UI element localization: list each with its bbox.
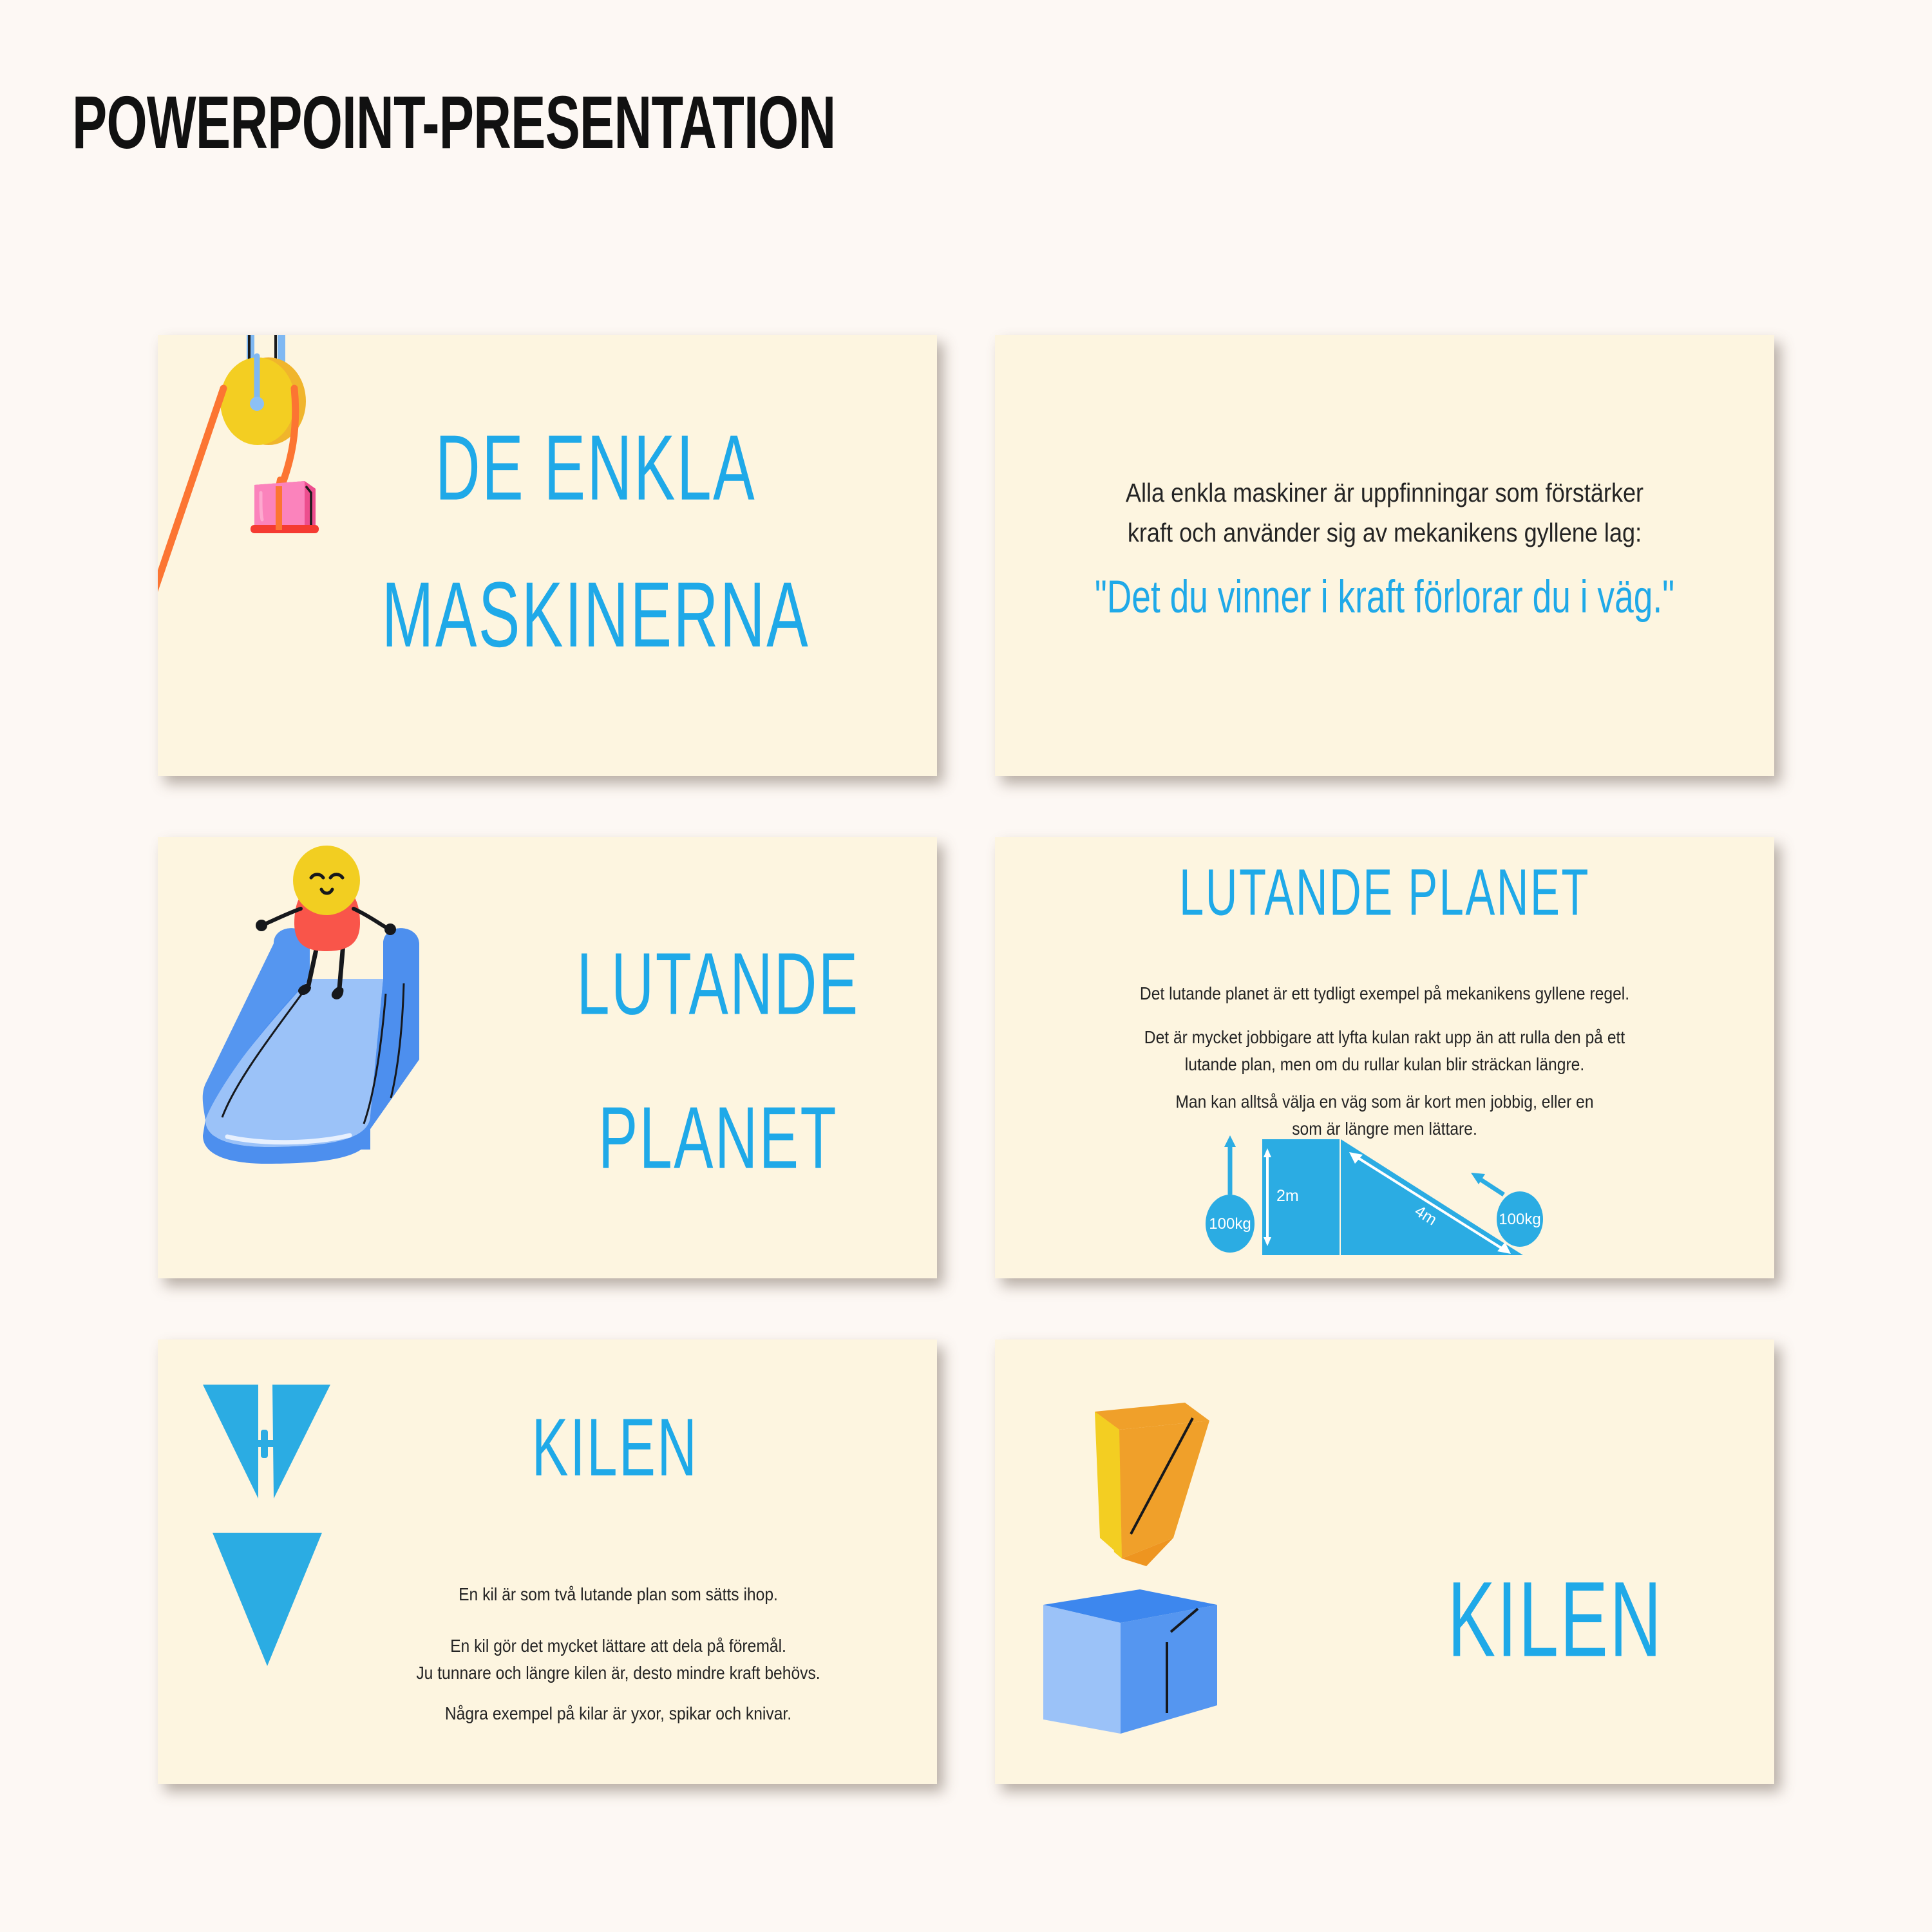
slide-4[interactable]: LUTANDE PLANET Det lutande planet är ett… — [995, 837, 1774, 1278]
playground-slide-illustration — [177, 847, 538, 1246]
slide-2-intro: Alla enkla maskiner är uppfinningar som … — [1093, 473, 1676, 553]
slide-2-intro-line-2: kraft och använder sig av mekanikens gyl… — [1093, 513, 1676, 553]
slide-4-paragraph-2: Det är mycket jobbigare att lyfta kulan … — [1095, 1024, 1674, 1078]
combined-wedge — [213, 1533, 322, 1666]
slide-3[interactable]: LUTANDE PLANET — [158, 837, 937, 1278]
cube-side-face — [1121, 1605, 1217, 1734]
slide-4-title: LUTANDE PLANET — [1065, 857, 1704, 928]
slide-2[interactable]: Alla enkla maskiner är uppfinningar som … — [995, 335, 1774, 776]
wedge-and-cube-illustration — [1024, 1365, 1359, 1758]
slide-1-title-line-2: MASKINERNA — [329, 566, 862, 666]
slide-3-title-line-1: LUTANDE — [554, 937, 882, 1032]
right-mass-label: 100kg — [1499, 1211, 1540, 1228]
left-mass-label: 100kg — [1209, 1215, 1251, 1233]
slide-4-paragraph-1: Det lutande planet är ett tydligt exempe… — [1095, 980, 1674, 1007]
slide-4-paragraph-3-line-1: Man kan alltså välja en väg som är kort … — [1095, 1088, 1674, 1115]
slide-5-paragraph-1: En kil är som två lutande plan som sätts… — [394, 1581, 842, 1608]
slide-4-paragraph-2-line-1: Det är mycket jobbigare att lyfta kulan … — [1095, 1024, 1674, 1051]
slide-3-title-line-2: PLANET — [554, 1091, 882, 1186]
wedge-diagram — [196, 1375, 364, 1736]
slide-1[interactable]: DE ENKLA MASKINERNA — [158, 335, 937, 776]
slide-5-paragraph-2-line-1: En kil gör det mycket lättare att dela p… — [394, 1633, 842, 1660]
height-label: 2m — [1276, 1187, 1299, 1205]
slide-1-title-line-1: DE ENKLA — [329, 419, 862, 518]
slide-5-paragraph-2-line-2: Ju tunnare och längre kilen är, desto mi… — [394, 1660, 842, 1687]
slide-2-quote: "Det du vinner i kraft förlorar du i väg… — [1072, 573, 1698, 623]
slide-grid: DE ENKLA MASKINERNA Alla enkla maskiner … — [158, 335, 1774, 1774]
presentation-page: POWERPOINT-PRESENTATION — [0, 0, 1932, 1932]
slide-4-paragraph-2-line-2: lutande plan, men om du rullar kulan bli… — [1095, 1051, 1674, 1078]
slide-5-title: KILEN — [414, 1404, 815, 1492]
slide-5[interactable]: KILEN En kil är som två lutande plan som… — [158, 1340, 937, 1784]
slide-1-title: DE ENKLA MASKINERNA — [329, 419, 862, 666]
slide-6[interactable]: KILEN — [995, 1340, 1774, 1784]
slide-5-paragraph-2: En kil gör det mycket lättare att dela p… — [394, 1633, 842, 1687]
plus-horizontal — [251, 1440, 279, 1447]
slide-3-title: LUTANDE PLANET — [554, 937, 882, 1186]
slide-5-paragraph-3: Några exempel på kilar är yxor, spikar o… — [394, 1700, 842, 1727]
wedge-side-face — [1119, 1421, 1209, 1558]
slide-2-intro-line-1: Alla enkla maskiner är uppfinningar som … — [1093, 473, 1676, 513]
slide-6-title: KILEN — [1392, 1562, 1719, 1677]
inclined-plane-diagram: 100kg 2m 4m 100kg — [1185, 1130, 1584, 1269]
page-title: POWERPOINT-PRESENTATION — [72, 85, 835, 160]
